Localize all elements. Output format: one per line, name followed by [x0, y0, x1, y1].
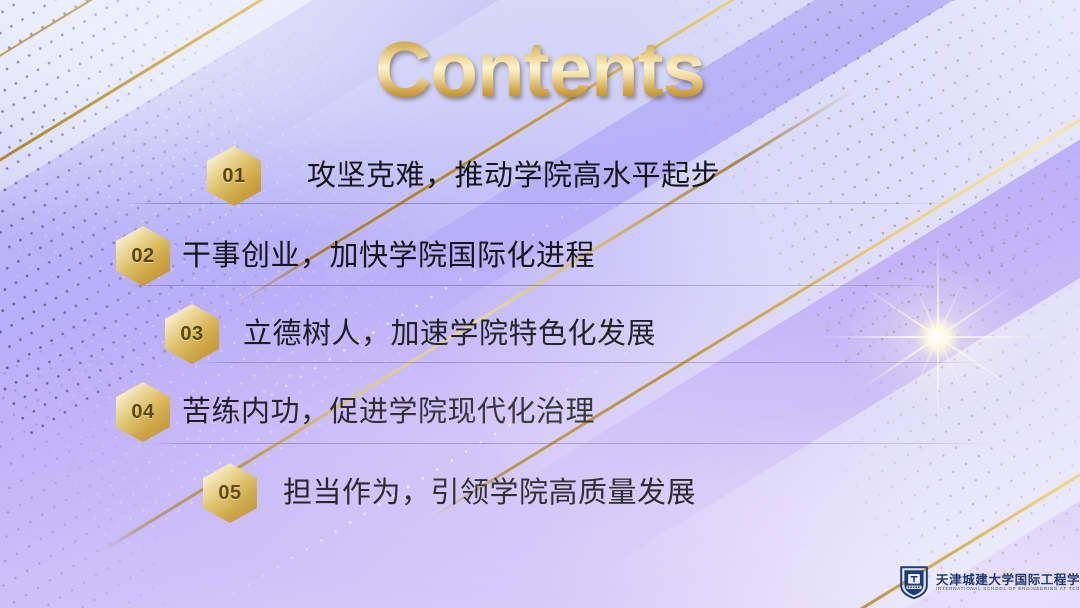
hexagon-badge-01: 01 — [207, 146, 261, 206]
item-label: 担当作为，引领学院高质量发展 — [283, 477, 696, 509]
list-item[interactable]: 02 干事创业，加快学院国际化进程 — [116, 226, 595, 286]
hexagon-badge-03: 03 — [165, 304, 219, 364]
logo-text-block: 天津城建大学国际工程学院 INTERNATIONAL SCHOOL OF ENG… — [936, 573, 1080, 592]
item-number: 05 — [218, 482, 241, 505]
hexagon-badge-05: 05 — [203, 463, 257, 523]
item-label: 干事创业，加快学院国际化进程 — [182, 240, 595, 272]
list-item[interactable]: 04 苦练内功，促进学院现代化治理 — [116, 382, 595, 442]
presentation-slide: Contents 01 攻坚克难，推动学院高水平起步 02 干事创业，加快学院国… — [0, 0, 1080, 608]
item-number: 04 — [131, 401, 154, 424]
logo-name-cn: 天津城建大学国际工程学院 — [936, 573, 1080, 586]
institution-logo: 天津城建大学国际工程学院 INTERNATIONAL SCHOOL OF ENG… — [899, 565, 1080, 599]
item-number: 03 — [180, 323, 203, 346]
list-item[interactable]: 01 攻坚克难，推动学院高水平起步 — [207, 146, 720, 206]
hexagon-badge-02: 02 — [116, 226, 170, 286]
hexagon-badge-04: 04 — [116, 382, 170, 442]
item-label: 苦练内功，促进学院现代化治理 — [182, 396, 595, 428]
item-number: 02 — [131, 245, 154, 268]
contents-list: 01 攻坚克难，推动学院高水平起步 02 干事创业，加快学院国际化进程 03 立… — [0, 0, 1080, 608]
logo-name-en: INTERNATIONAL SCHOOL OF ENGINEERING AT T… — [936, 587, 1080, 592]
item-number: 01 — [222, 165, 245, 188]
list-item[interactable]: 03 立德树人，加速学院特色化发展 — [165, 304, 656, 364]
item-label: 攻坚克难，推动学院高水平起步 — [307, 160, 720, 192]
item-label: 立德树人，加速学院特色化发展 — [243, 318, 656, 350]
list-item[interactable]: 05 担当作为，引领学院高质量发展 — [203, 463, 696, 523]
shield-crest-icon — [899, 565, 929, 599]
